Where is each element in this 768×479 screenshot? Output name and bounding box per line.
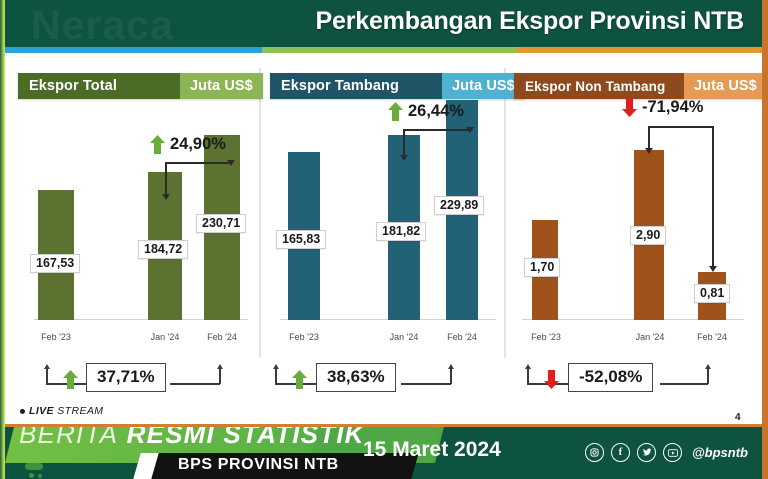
- footer-handle: @bpsntb: [692, 445, 748, 460]
- chart-1-value-feb24: 230,71: [196, 214, 246, 233]
- chart-1-mom-up-arrow-icon: [150, 135, 165, 154]
- chart-2-value-feb23: 165,83: [276, 230, 326, 249]
- accent-strip-green: [262, 47, 517, 53]
- chart-1-xlabel-jan24: Jan '24: [139, 332, 191, 342]
- footer-brand-word-2: RESMI STATISTIK: [127, 427, 365, 449]
- twitter-icon[interactable]: [637, 443, 656, 462]
- header-watermark: Neraca: [31, 2, 174, 49]
- chart-1-value-feb23: 167,53: [30, 254, 80, 273]
- chart-3-mom-down-arrow-icon: [622, 98, 637, 117]
- live-label: LIVE: [29, 405, 54, 417]
- chart-panel-ekspor-tambang: Ekspor Tambang Juta US$ 165,83 181,82 22…: [262, 60, 506, 350]
- chart-2-title: Ekspor Tambang: [270, 73, 442, 99]
- slide-footer: BERITA RESMI STATISTIK BPS PROVINSI NTB …: [5, 427, 762, 479]
- page-number: 4: [735, 412, 741, 423]
- live-stream-indicator: LIVE STREAM: [20, 405, 103, 417]
- chart-3-value-feb24: 0,81: [694, 284, 730, 303]
- chart-2-mom-up-arrow-icon: [388, 102, 403, 121]
- chart-2-yoy-percent: 38,63%: [316, 363, 396, 392]
- page-title: Perkembangan Ekspor Provinsi NTB: [316, 7, 744, 36]
- footer-social-links[interactable]: f @bpsntb: [585, 443, 748, 462]
- chart-3-plot: 1,70 2,90 0,81 -71,94%: [508, 106, 760, 350]
- chart-1-xlabel-feb24: Feb '24: [196, 332, 248, 342]
- chart-2-xlabel-feb23: Feb '23: [278, 332, 330, 342]
- chart-3-yoy-comparison: -52,08%: [508, 358, 760, 402]
- footer-brand-word-1: BERITA: [19, 427, 118, 449]
- chart-1-title: Ekspor Total: [18, 73, 180, 99]
- chart-3-xlabel-feb23: Feb '23: [520, 332, 572, 342]
- accent-strip-orange: [517, 47, 762, 53]
- chart-panel-ekspor-non-tambang: Ekspor Non Tambang Juta US$ 1,70 2,90 0,…: [508, 60, 760, 350]
- chart-3-label-bar: Ekspor Non Tambang Juta US$: [514, 73, 767, 99]
- chart-1-yoy-percent: 37,71%: [86, 363, 166, 392]
- chart-1-xlabel-feb23: Feb '23: [30, 332, 82, 342]
- chart-2-xlabel-feb24: Feb '24: [436, 332, 488, 342]
- chart-2-label-bar: Ekspor Tambang Juta US$: [270, 73, 525, 99]
- footer-org-name: BPS PROVINSI NTB: [178, 456, 339, 474]
- chart-3-xlabel-feb24: Feb '24: [686, 332, 738, 342]
- chart-3-mom-percent: -71,94%: [642, 98, 703, 117]
- right-edge-accent: [762, 0, 768, 479]
- instagram-icon[interactable]: [585, 443, 604, 462]
- chart-1-value-jan24: 184,72: [138, 240, 188, 259]
- chart-2-xlabel-jan24: Jan '24: [378, 332, 430, 342]
- chart-1-yoy-comparison: 37,71%: [10, 358, 260, 402]
- left-edge-accent: [0, 0, 5, 479]
- stream-label: STREAM: [57, 405, 103, 417]
- chart-3-title: Ekspor Non Tambang: [514, 73, 684, 99]
- chart-2-yoy-comparison: 38,63%: [262, 358, 506, 402]
- chart-3-unit: Juta US$: [684, 73, 767, 99]
- chart-3-yoy-down-arrow-icon: [544, 370, 559, 389]
- footer-brand: BERITA RESMI STATISTIK: [19, 427, 365, 450]
- chart-2-yoy-up-arrow-icon: [292, 370, 307, 389]
- slide-root: Neraca Perkembangan Ekspor Provinsi NTB …: [0, 0, 768, 479]
- live-dot-icon: [20, 409, 25, 414]
- bottom-orange-rule: [5, 424, 762, 427]
- chart-1-mom-percent: 24,90%: [170, 135, 226, 154]
- chart-3-value-jan24: 2,90: [630, 226, 666, 245]
- chart-1-plot: 167,53 184,72 230,71 24,90%: [10, 106, 260, 350]
- chart-3-value-feb23: 1,70: [524, 258, 560, 277]
- chart-3-xlabel-jan24: Jan '24: [624, 332, 676, 342]
- chart-3-yoy-percent: -52,08%: [568, 363, 653, 392]
- chart-panel-ekspor-total: Ekspor Total Juta US$ 167,53 184,72 230,…: [10, 60, 260, 350]
- chart-1-label-bar: Ekspor Total Juta US$: [18, 73, 263, 99]
- chart-2-value-jan24: 181,82: [376, 222, 426, 241]
- slide-header: Neraca Perkembangan Ekspor Provinsi NTB: [5, 0, 762, 52]
- chart-1-yoy-up-arrow-icon: [63, 370, 78, 389]
- accent-strip-blue: [5, 47, 262, 53]
- chart-2-mom-percent: 26,44%: [408, 102, 464, 121]
- youtube-icon[interactable]: [663, 443, 682, 462]
- footer-date: 15 Maret 2024: [363, 438, 501, 462]
- chart-1-unit: Juta US$: [180, 73, 263, 99]
- facebook-icon[interactable]: f: [611, 443, 630, 462]
- chart-2-plot: 165,83 181,82 229,89 26,44%: [262, 106, 506, 350]
- chart-2-value-feb24: 229,89: [434, 196, 484, 215]
